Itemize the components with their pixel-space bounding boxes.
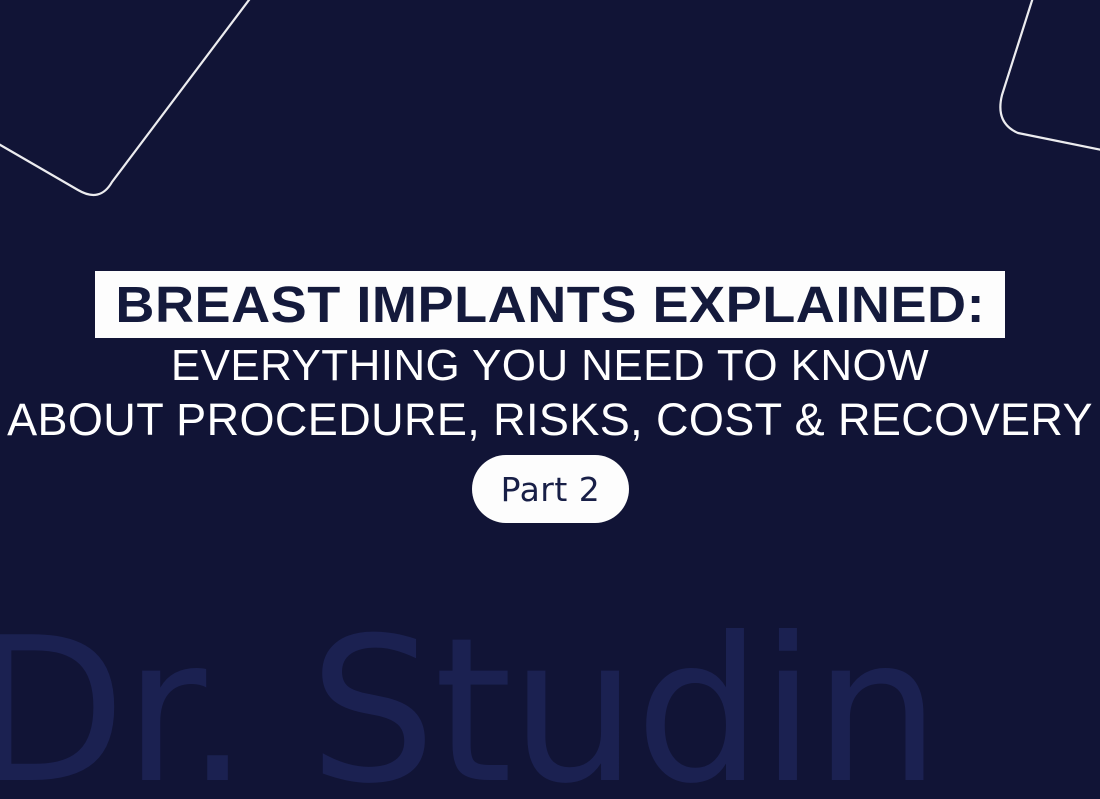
headline-block: BREAST IMPLANTS EXPLAINED: EVERYTHING YO… [0,0,1100,799]
promo-banner: Dr. Studin BREAST IMPLANTS EXPLAINED: EV… [0,0,1100,799]
subtitle-line-2: ABOUT PROCEDURE, RISKS, COST & RECOVERY [0,397,1100,442]
part-badge-label: Part 2 [501,473,601,506]
subtitle-line-1: EVERYTHING YOU NEED TO KNOW [0,344,1100,388]
part-badge: Part 2 [472,455,629,523]
title-highlight-band: BREAST IMPLANTS EXPLAINED: [95,271,1005,338]
page-title: BREAST IMPLANTS EXPLAINED: [115,279,985,330]
